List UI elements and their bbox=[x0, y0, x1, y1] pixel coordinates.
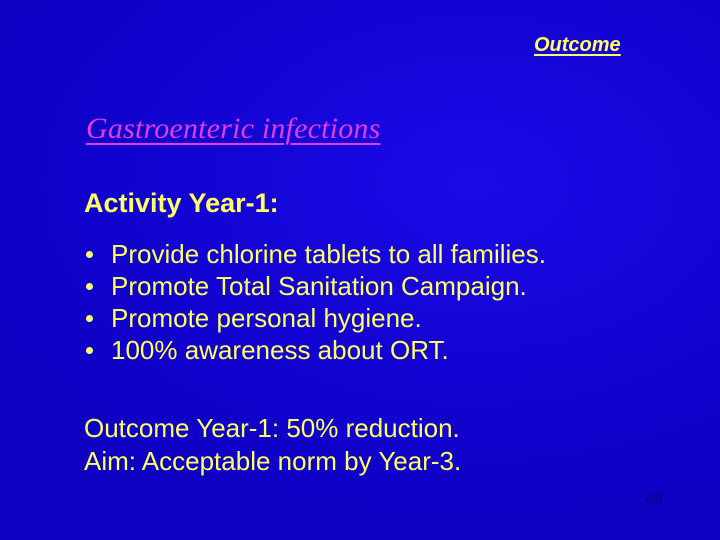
activity-year-heading: Activity Year-1: bbox=[84, 187, 279, 219]
bullet-dot-icon bbox=[86, 251, 93, 258]
page-title: Gastroenteric infections bbox=[86, 111, 380, 147]
bullet-dot-icon bbox=[86, 347, 93, 354]
bullet-dot-icon bbox=[86, 315, 93, 322]
list-item: Promote personal hygiene. bbox=[84, 302, 694, 334]
list-item: Promote Total Sanitation Campaign. bbox=[84, 270, 694, 302]
list-item-label: Promote personal hygiene. bbox=[111, 303, 422, 333]
list-item-label: Promote Total Sanitation Campaign. bbox=[111, 271, 527, 301]
outcome-year-line: Outcome Year-1: 50% reduction. bbox=[84, 412, 684, 445]
outcome-summary: Outcome Year-1: 50% reduction. Aim: Acce… bbox=[84, 412, 684, 478]
presentation-slide: Outcome Gastroenteric infections Activit… bbox=[0, 0, 720, 540]
list-item: 100% awareness about ORT. bbox=[84, 334, 694, 366]
list-item-label: 100% awareness about ORT. bbox=[111, 335, 449, 365]
aim-line: Aim: Acceptable norm by Year-3. bbox=[84, 445, 684, 478]
list-item: Provide chlorine tablets to all families… bbox=[84, 238, 694, 270]
bullet-list: Provide chlorine tablets to all families… bbox=[84, 238, 694, 366]
list-item-label: Provide chlorine tablets to all families… bbox=[111, 239, 546, 269]
slide-header-outcome: Outcome bbox=[534, 33, 621, 57]
page-number: 49 bbox=[645, 490, 663, 510]
bullet-dot-icon bbox=[86, 283, 93, 290]
